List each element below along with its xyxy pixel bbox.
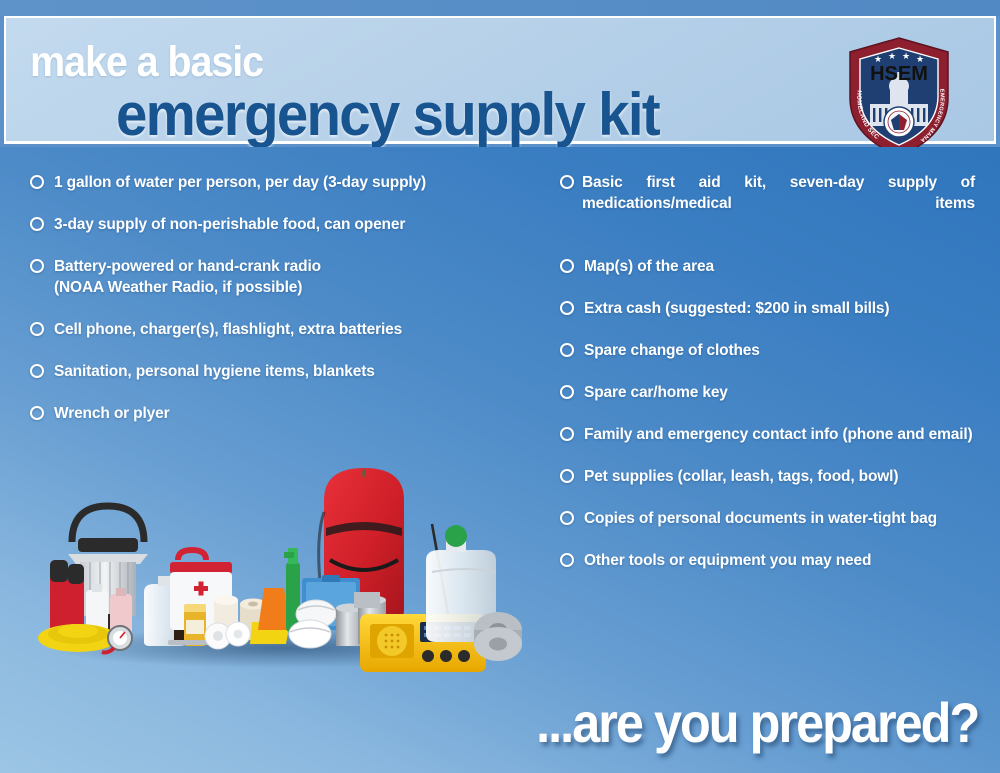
list-item: Other tools or equipment you may need: [560, 550, 975, 571]
circle-outline-icon: [560, 301, 574, 315]
list-item-label: Family and emergency contact info (phone…: [584, 424, 975, 445]
list-item: Spare car/home key: [560, 382, 975, 403]
list-item-label: Sanitation, personal hygiene items, blan…: [54, 361, 540, 382]
list-item-label: 3-day supply of non-perishable food, can…: [54, 214, 540, 235]
hsem-badge-logo: ★ ★ ★ ★: [844, 36, 954, 158]
duct-tape-icon: [474, 612, 522, 661]
circle-outline-icon: [560, 469, 574, 483]
circle-outline-icon: [560, 427, 574, 441]
checklist-left-column: 1 gallon of water per person, per day (3…: [30, 172, 540, 445]
circle-outline-icon: [560, 511, 574, 525]
circle-outline-icon: [560, 385, 574, 399]
circle-outline-icon: [30, 364, 44, 378]
list-item: 3-day supply of non-perishable food, can…: [30, 214, 540, 235]
list-item-label: 1 gallon of water per person, per day (3…: [54, 172, 540, 193]
list-item-label: Battery-powered or hand-crank radio (NOA…: [54, 256, 540, 298]
medicine-bottle-icon: [184, 604, 206, 646]
list-item: Copies of personal documents in water-ti…: [560, 508, 975, 529]
circle-outline-icon: [560, 343, 574, 357]
city-seal-icon: [884, 107, 914, 137]
poster: make a basic emergency supply kit ★ ★ ★ …: [0, 0, 1000, 773]
circle-outline-icon: [30, 217, 44, 231]
checklist-right-column: Basic first aid kit, seven-day supply of…: [560, 172, 975, 592]
badge-acronym: HSEM: [870, 63, 928, 85]
circle-outline-icon: [560, 553, 574, 567]
list-item-label: Other tools or equipment you may need: [584, 550, 975, 571]
list-item: Extra cash (suggested: $200 in small bil…: [560, 298, 975, 319]
svg-text:★: ★: [902, 51, 910, 61]
emergency-supplies-photo: [28, 442, 538, 672]
circle-outline-icon: [30, 175, 44, 189]
header-top-band: [0, 0, 1000, 16]
list-item-label: Basic first aid kit, seven-day supply of…: [582, 172, 975, 235]
header-panel: make a basic emergency supply kit ★ ★ ★ …: [4, 16, 996, 144]
rope-icon: [38, 624, 118, 652]
circle-outline-icon: [30, 322, 44, 336]
svg-text:★: ★: [888, 51, 896, 61]
circle-outline-icon: [30, 406, 44, 420]
list-item-label: Spare car/home key: [584, 382, 975, 403]
list-item: Wrench or plyer: [30, 403, 540, 424]
circle-outline-icon: [560, 259, 574, 273]
list-item: Spare change of clothes: [560, 340, 975, 361]
list-item-label: Map(s) of the area: [584, 256, 975, 277]
list-item: Pet supplies (collar, leash, tags, food,…: [560, 466, 975, 487]
spray-bottle-icon: [258, 548, 300, 632]
circle-outline-icon: [30, 259, 44, 273]
circle-outline-icon: [560, 175, 574, 189]
list-item: Sanitation, personal hygiene items, blan…: [30, 361, 540, 382]
tagline: ...are you prepared?: [536, 690, 978, 755]
list-item-label: Copies of personal documents in water-ti…: [584, 508, 975, 529]
poster-body: 1 gallon of water per person, per day (3…: [0, 147, 1000, 773]
list-item-label: Spare change of clothes: [584, 340, 975, 361]
list-item-label: Wrench or plyer: [54, 403, 540, 424]
list-item: Cell phone, charger(s), flashlight, extr…: [30, 319, 540, 340]
list-item: Battery-powered or hand-crank radio (NOA…: [30, 256, 540, 298]
list-item-label: Cell phone, charger(s), flashlight, extr…: [54, 319, 540, 340]
list-item: Map(s) of the area: [560, 256, 975, 277]
list-item-label: Extra cash (suggested: $200 in small bil…: [584, 298, 975, 319]
list-item: Family and emergency contact info (phone…: [560, 424, 975, 445]
list-item-label: Pet supplies (collar, leash, tags, food,…: [584, 466, 975, 487]
list-item: Basic first aid kit, seven-day supply of…: [560, 172, 975, 235]
page-title-line2: emergency supply kit: [116, 80, 659, 149]
list-item: 1 gallon of water per person, per day (3…: [30, 172, 540, 193]
